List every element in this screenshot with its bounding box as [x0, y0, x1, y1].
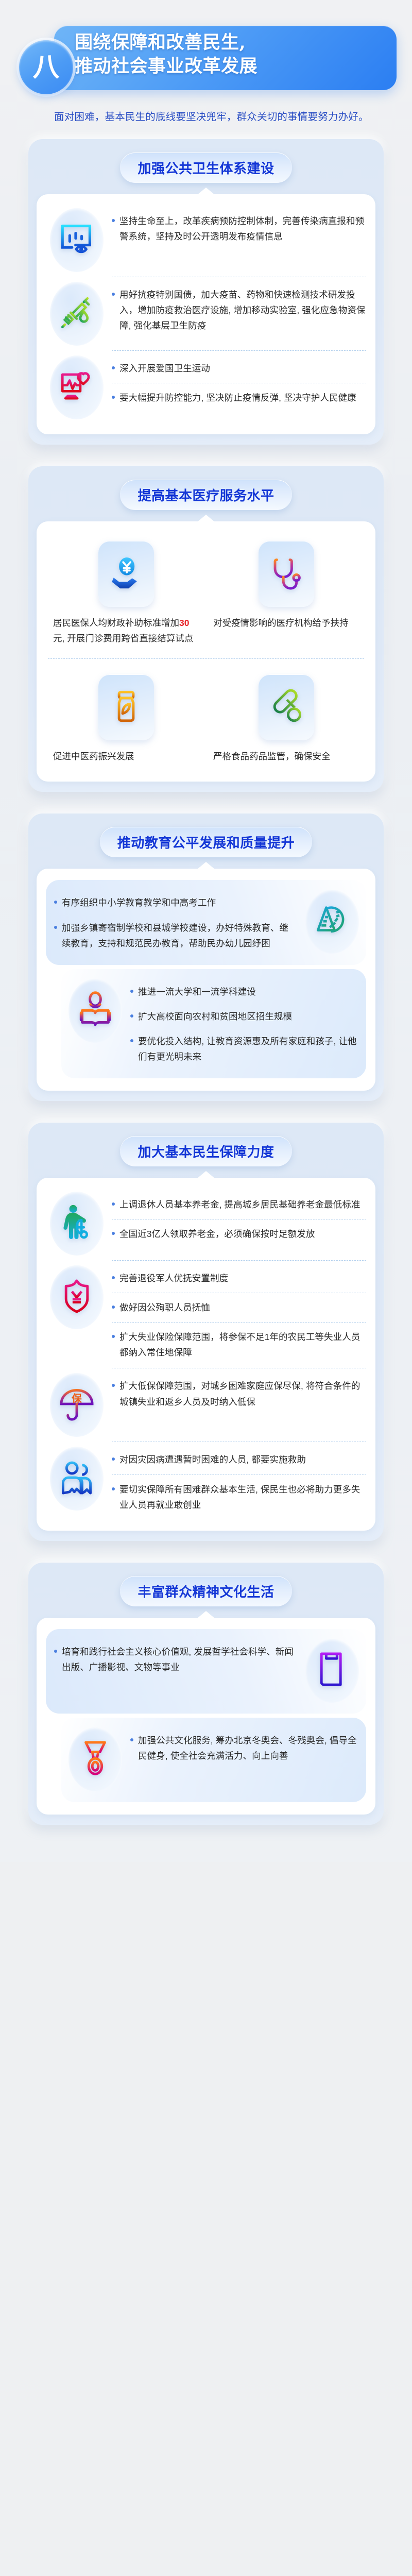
syringe-vaccine-icon — [58, 294, 96, 334]
bullet-text: 培育和践行社会主义核心价值观, 发展哲学社会科学、新闻出版、广播影视、文物等事业 — [62, 1644, 297, 1675]
bullet-divider — [112, 1293, 366, 1293]
content-block-b: 推进一流大学和一流学科建设扩大高校面向农村和贫困地区招生规模要优化投入结构, 让… — [61, 969, 366, 1078]
grid-divider — [48, 658, 364, 659]
cell-text: 居民医保人均财政补助标准增加30元, 开展门诊费用跨省直接结算试点 — [51, 615, 201, 646]
bullet-dot — [54, 901, 57, 904]
cell-icon-box — [259, 674, 314, 740]
bullet-dot — [112, 1458, 115, 1461]
content-row: 对因灾因病遭遇暂时困难的人员, 都要实施救助要切实保障所有困难群众基本生活, 保… — [46, 1444, 366, 1518]
sections-container: 加强公共卫生体系建设 坚持生命至上，改革疾病预防控制体制，完善传染病直报和预警系… — [0, 139, 412, 1825]
bullet-text: 扩大高校面向农村和贫困地区招生规模 — [138, 1009, 292, 1024]
section-title-culture: 丰富群众精神文化生活 — [120, 1576, 291, 1606]
bullet-list: 扩大低保保障范围，对城乡困难家庭应保尽保, 将符合条件的城镇失业和返乡人员及时纳… — [112, 1371, 366, 1414]
icon-container — [64, 1726, 126, 1793]
content-block-a: 培育和践行社会主义核心价值观, 发展哲学社会科学、新闻出版、广播影视、文物等事业 — [46, 1629, 366, 1714]
medal-icon — [76, 1739, 114, 1780]
icon-container: 保 — [46, 1371, 108, 1438]
bullet-text: 上调退休人员基本养老金, 提高城乡居民基础养老金最低标准 — [119, 1197, 360, 1212]
icon-container — [301, 888, 363, 955]
grid-cell: 对受疫情影响的医疗机构给予扶持 — [206, 533, 366, 651]
cell-content: 居民医保人均财政补助标准增加30元, 开展门诊费用跨省直接结算试点 — [51, 541, 201, 646]
highlight-number: 30 — [179, 618, 189, 628]
content-row: 保 扩大低保保障范围，对城乡困难家庭应保尽保, 将符合条件的城镇失业和返乡人员及… — [46, 1370, 366, 1439]
hand-yuan-coin-icon — [107, 554, 145, 595]
bullet-dot — [112, 1487, 115, 1490]
bullet-list: 培育和践行社会主义核心价值观, 发展哲学社会科学、新闻出版、广播影视、文物等事业 — [49, 1637, 297, 1680]
bullet-item: 全国近3亿人领取养老金，必须确保按时足额发放 — [112, 1222, 366, 1246]
grid-cell: 促进中医药振兴发展 — [46, 666, 206, 769]
bullet-dot — [112, 1384, 115, 1387]
section-culture: 丰富群众精神文化生活培育和践行社会主义核心价值观, 发展哲学社会科学、新闻出版、… — [28, 1563, 384, 1825]
bullet-item: 做好因公殉职人员抚恤 — [112, 1295, 366, 1320]
icon-container — [64, 977, 126, 1044]
content-row: 深入开展爱国卫生运动要大幅提升防控能力, 坚决防止疫情反弹, 坚决守护人民健康 — [46, 353, 366, 422]
page-title: 围绕保障和改善民生,推动社会事业改革发展 — [75, 31, 389, 78]
cell-icon-box — [98, 674, 154, 740]
spacer — [46, 1714, 366, 1718]
page-lede: 面对困难，基本民生的底线要坚决兜牢，群众关切的事情要努力办好。 — [54, 108, 394, 126]
bullet-text: 要切实保障所有困难群众基本生活, 保民生也必将助力更多失业人员再就业敢创业 — [119, 1482, 366, 1513]
section-body-livelihood: 上调退休人员基本养老金, 提高城乡居民基础养老金最低标准全国近3亿人领取养老金，… — [37, 1178, 375, 1531]
bullet-text: 有序组织中小学教育教学和中高考工作 — [62, 895, 216, 910]
cell-text: 促进中医药振兴发展 — [51, 749, 201, 764]
bullet-item: 要大幅提升防控能力, 坚决防止疫情反弹, 坚决守护人民健康 — [112, 385, 366, 410]
bullet-text: 坚持生命至上，改革疾病预防控制体制，完善传染病直报和预警系统，坚持及时公开透明发… — [119, 213, 366, 244]
bullet-dot — [112, 366, 115, 369]
bullet-text: 要大幅提升防控能力, 坚决防止疫情反弹, 坚决守护人民健康 — [119, 390, 356, 405]
cell-text: 对受疫情影响的医疗机构给予扶持 — [211, 615, 361, 631]
bullet-item: 坚持生命至上，改革疾病预防控制体制，完善传染病直报和预警系统，坚持及时公开透明发… — [112, 209, 366, 249]
row-divider — [112, 277, 366, 277]
section-number-badge: 八 — [19, 40, 73, 94]
ruler-protractor-icon — [313, 902, 351, 942]
section-title-education: 推动教育公平发展和质量提升 — [100, 827, 313, 857]
row-divider — [112, 1260, 366, 1261]
shield-yuan-icon — [58, 1277, 96, 1318]
bullet-dot — [130, 990, 133, 993]
bullet-text: 全国近3亿人领取养老金，必须确保按时足额发放 — [119, 1226, 315, 1242]
bullet-text: 要优化投入结构, 让教育资源惠及所有家庭和孩子, 让他们有更光明未来 — [138, 1033, 363, 1064]
bullet-item: 培育和践行社会主义核心价值观, 发展哲学社会科学、新闻出版、广播影视、文物等事业 — [54, 1639, 297, 1680]
umbrella-bao-icon: 保 — [58, 1385, 96, 1426]
bullet-text: 用好抗疫特别国债，加大疫苗、药物和快速检测技术研发投入，增加防疫救治医疗设施, … — [119, 287, 366, 333]
chart-monitor-eye-icon — [58, 220, 96, 261]
icon-container — [46, 1264, 108, 1331]
bullet-list: 坚持生命至上，改革疾病预防控制体制，完善传染病直报和预警系统，坚持及时公开透明发… — [112, 207, 366, 249]
heart-monitor-icon — [58, 367, 96, 408]
bullet-list: 有序组织中小学教育教学和中高考工作加强乡镇寄宿制学校和县城学校建设，办好特殊教育… — [49, 888, 297, 955]
medicine-bottle-leaf-icon — [107, 687, 145, 728]
bullet-dot — [112, 1306, 115, 1309]
bullet-item: 扩大失业保险保障范围，将参保不足1年的农民工等失业人员都纳入常住地保障 — [112, 1325, 366, 1365]
content-row: 坚持生命至上，改革疾病预防控制体制，完善传染病直报和预警系统，坚持及时公开透明发… — [46, 206, 366, 275]
two-people-icon — [58, 1459, 96, 1499]
section-education: 推动教育公平发展和质量提升有序组织中小学教育教学和中高考工作加强乡镇寄宿制学校和… — [28, 814, 384, 1101]
icon-container — [301, 1637, 363, 1704]
bullet-text: 做好因公殉职人员抚恤 — [119, 1300, 210, 1315]
bullet-item: 对因灾因病遭遇暂时困难的人员, 都要实施救助 — [112, 1447, 366, 1472]
bullet-dot — [112, 1335, 115, 1338]
bullet-list: 对因灾因病遭遇暂时困难的人员, 都要实施救助要切实保障所有困难群众基本生活, 保… — [112, 1445, 366, 1517]
bullet-item: 扩大低保保障范围，对城乡困难家庭应保尽保, 将符合条件的城镇失业和返乡人员及时纳… — [112, 1374, 366, 1414]
icon-container — [46, 354, 108, 421]
bullet-item: 扩大高校面向农村和贫困地区招生规模 — [130, 1004, 363, 1029]
bullet-dot — [112, 1232, 115, 1235]
elderly-walker-icon — [58, 1204, 96, 1244]
bullet-item: 上调退休人员基本养老金, 提高城乡居民基础养老金最低标准 — [112, 1192, 366, 1217]
bullet-list: 深入开展爱国卫生运动要大幅提升防控能力, 坚决防止疫情反弹, 坚决守护人民健康 — [112, 354, 366, 410]
cell-content: 严格食品药品监管，确保安全 — [211, 674, 361, 764]
bullet-text: 深入开展爱国卫生运动 — [119, 361, 210, 376]
icon-container — [46, 1190, 108, 1257]
row-divider — [112, 350, 366, 351]
bullet-text: 对因灾因病遭遇暂时困难的人员, 都要实施救助 — [119, 1452, 306, 1467]
svg-text:保: 保 — [71, 1393, 82, 1404]
bullet-list: 推进一流大学和一流学科建设扩大高校面向农村和贫困地区招生规模要优化投入结构, 让… — [130, 977, 363, 1069]
bullet-item: 要切实保障所有困难群众基本生活, 保民生也必将助力更多失业人员再就业敢创业 — [112, 1477, 366, 1517]
grid-cell: 居民医保人均财政补助标准增加30元, 开展门诊费用跨省直接结算试点 — [46, 533, 206, 651]
bullet-text: 加强公共文化服务, 筹办北京冬奥会、冬残奥会, 倡导全民健身, 使全社会充满活力… — [138, 1733, 363, 1764]
bullet-list: 上调退休人员基本养老金, 提高城乡居民基础养老金最低标准全国近3亿人领取养老金，… — [112, 1190, 366, 1246]
page-header: 八 围绕保障和改善民生,推动社会事业改革发展 — [0, 0, 412, 103]
bullet-item: 深入开展爱国卫生运动 — [112, 356, 366, 381]
bullet-list: 用好抗疫特别国债，加大疫苗、药物和快速检测技术研发投入，增加防疫救治医疗设施, … — [112, 280, 366, 338]
section-title-livelihood: 加大基本民生保障力度 — [120, 1136, 291, 1166]
cell-content: 对受疫情影响的医疗机构给予扶持 — [211, 541, 361, 631]
cell-content: 促进中医药振兴发展 — [51, 674, 201, 764]
cell-text: 严格食品药品监管，确保安全 — [211, 749, 361, 764]
bullet-dot — [112, 396, 115, 399]
section-title-public-health: 加强公共卫生体系建设 — [120, 152, 291, 183]
section-public-health: 加强公共卫生体系建设 坚持生命至上，改革疾病预防控制体制，完善传染病直报和预警系… — [28, 139, 384, 445]
grid-2x2: 居民医保人均财政补助标准增加30元, 开展门诊费用跨省直接结算试点 对受疫情影响… — [46, 533, 366, 769]
bullet-dot — [112, 219, 115, 222]
icon-container — [46, 207, 108, 274]
bullet-item: 用好抗疫特别国债，加大疫苗、药物和快速检测技术研发投入，增加防疫救治医疗设施, … — [112, 282, 366, 338]
bullet-list: 完善退役军人优抚安置制度做好因公殉职人员抚恤扩大失业保险保障范围，将参保不足1年… — [112, 1264, 366, 1365]
book-document-icon — [313, 1650, 351, 1691]
bullet-dot — [130, 1039, 133, 1042]
bullet-list: 加强公共文化服务, 筹办北京冬奥会、冬残奥会, 倡导全民健身, 使全社会充满活力… — [130, 1726, 363, 1768]
bullet-dot — [112, 1202, 115, 1206]
bullet-divider — [112, 383, 366, 383]
bullet-item: 要优化投入结构, 让教育资源惠及所有家庭和孩子, 让他们有更光明未来 — [130, 1029, 363, 1069]
grid-cell: 严格食品药品监管，确保安全 — [206, 666, 366, 769]
bullet-dot — [112, 293, 115, 296]
cell-icon-box — [259, 541, 314, 607]
icon-container — [46, 1445, 108, 1512]
section-body-education: 有序组织中小学教育教学和中高考工作加强乡镇寄宿制学校和县城学校建设，办好特殊教育… — [37, 869, 375, 1091]
bullet-item: 加强乡镇寄宿制学校和县城学校建设，办好特殊教育、继续教育，支持和规范民办教育，帮… — [54, 916, 297, 956]
content-row: 用好抗疫特别国债，加大疫苗、药物和快速检测技术研发投入，增加防疫救治医疗设施, … — [46, 279, 366, 348]
section-livelihood: 加大基本民生保障力度 上调退休人员基本养老金, 提高城乡居民基础养老金最低标准全… — [28, 1123, 384, 1541]
section-body-culture: 培育和践行社会主义核心价值观, 发展哲学社会科学、新闻出版、广播影视、文物等事业… — [37, 1618, 375, 1815]
bullet-item: 推进一流大学和一流学科建设 — [130, 979, 363, 1004]
content-block-b: 加强公共文化服务, 筹办北京冬奥会、冬残奥会, 倡导全民健身, 使全社会充满活力… — [61, 1718, 366, 1802]
bullet-dot — [54, 926, 57, 929]
content-block-a: 有序组织中小学教育教学和中高考工作加强乡镇寄宿制学校和县城学校建设，办好特殊教育… — [46, 880, 366, 964]
bullet-divider — [112, 1219, 366, 1219]
bullet-item: 完善退役军人优抚安置制度 — [112, 1266, 366, 1291]
bullet-divider — [112, 1475, 366, 1475]
bullet-dot — [112, 1276, 115, 1279]
content-row: 上调退休人员基本养老金, 提高城乡居民基础养老金最低标准全国近3亿人领取养老金，… — [46, 1189, 366, 1258]
bullet-text: 扩大失业保险保障范围，将参保不足1年的农民工等失业人员都纳入常住地保障 — [119, 1329, 366, 1360]
section-title-medical-service: 提高基本医疗服务水平 — [120, 480, 291, 510]
section-body-medical-service: 居民医保人均财政补助标准增加30元, 开展门诊费用跨省直接结算试点 对受疫情影响… — [37, 521, 375, 782]
student-book-icon — [76, 990, 114, 1031]
stethoscope-icon — [267, 554, 305, 595]
bullet-dot — [130, 1738, 133, 1741]
cell-icon-box — [98, 541, 154, 607]
bullet-text: 推进一流大学和一流学科建设 — [138, 984, 256, 999]
bullet-text: 完善退役军人优抚安置制度 — [119, 1270, 228, 1286]
bullet-text: 扩大低保保障范围，对城乡困难家庭应保尽保, 将符合条件的城镇失业和返乡人员及时纳… — [119, 1378, 366, 1409]
spacer — [46, 965, 366, 969]
row-divider — [112, 1442, 366, 1442]
capsule-pill-icon — [267, 687, 305, 728]
bullet-dot — [130, 1014, 133, 1018]
section-body-public-health: 坚持生命至上，改革疾病预防控制体制，完善传染病直报和预警系统，坚持及时公开透明发… — [37, 194, 375, 434]
bullet-item: 有序组织中小学教育教学和中高考工作 — [54, 890, 297, 915]
content-row: 完善退役军人优抚安置制度做好因公殉职人员抚恤扩大失业保险保障范围，将参保不足1年… — [46, 1263, 366, 1366]
bullet-dot — [54, 1650, 57, 1653]
bullet-text: 加强乡镇寄宿制学校和县城学校建设，办好特殊教育、继续教育，支持和规范民办教育，帮… — [62, 920, 297, 951]
row-divider — [112, 1368, 366, 1368]
bullet-item: 加强公共文化服务, 筹办北京冬奥会、冬残奥会, 倡导全民健身, 使全社会充满活力… — [130, 1728, 363, 1768]
icon-container — [46, 280, 108, 347]
bullet-divider — [112, 1322, 366, 1323]
section-medical-service: 提高基本医疗服务水平 居民医保人均财政补助标准增加30元, 开展门诊费用跨省直接… — [28, 466, 384, 792]
